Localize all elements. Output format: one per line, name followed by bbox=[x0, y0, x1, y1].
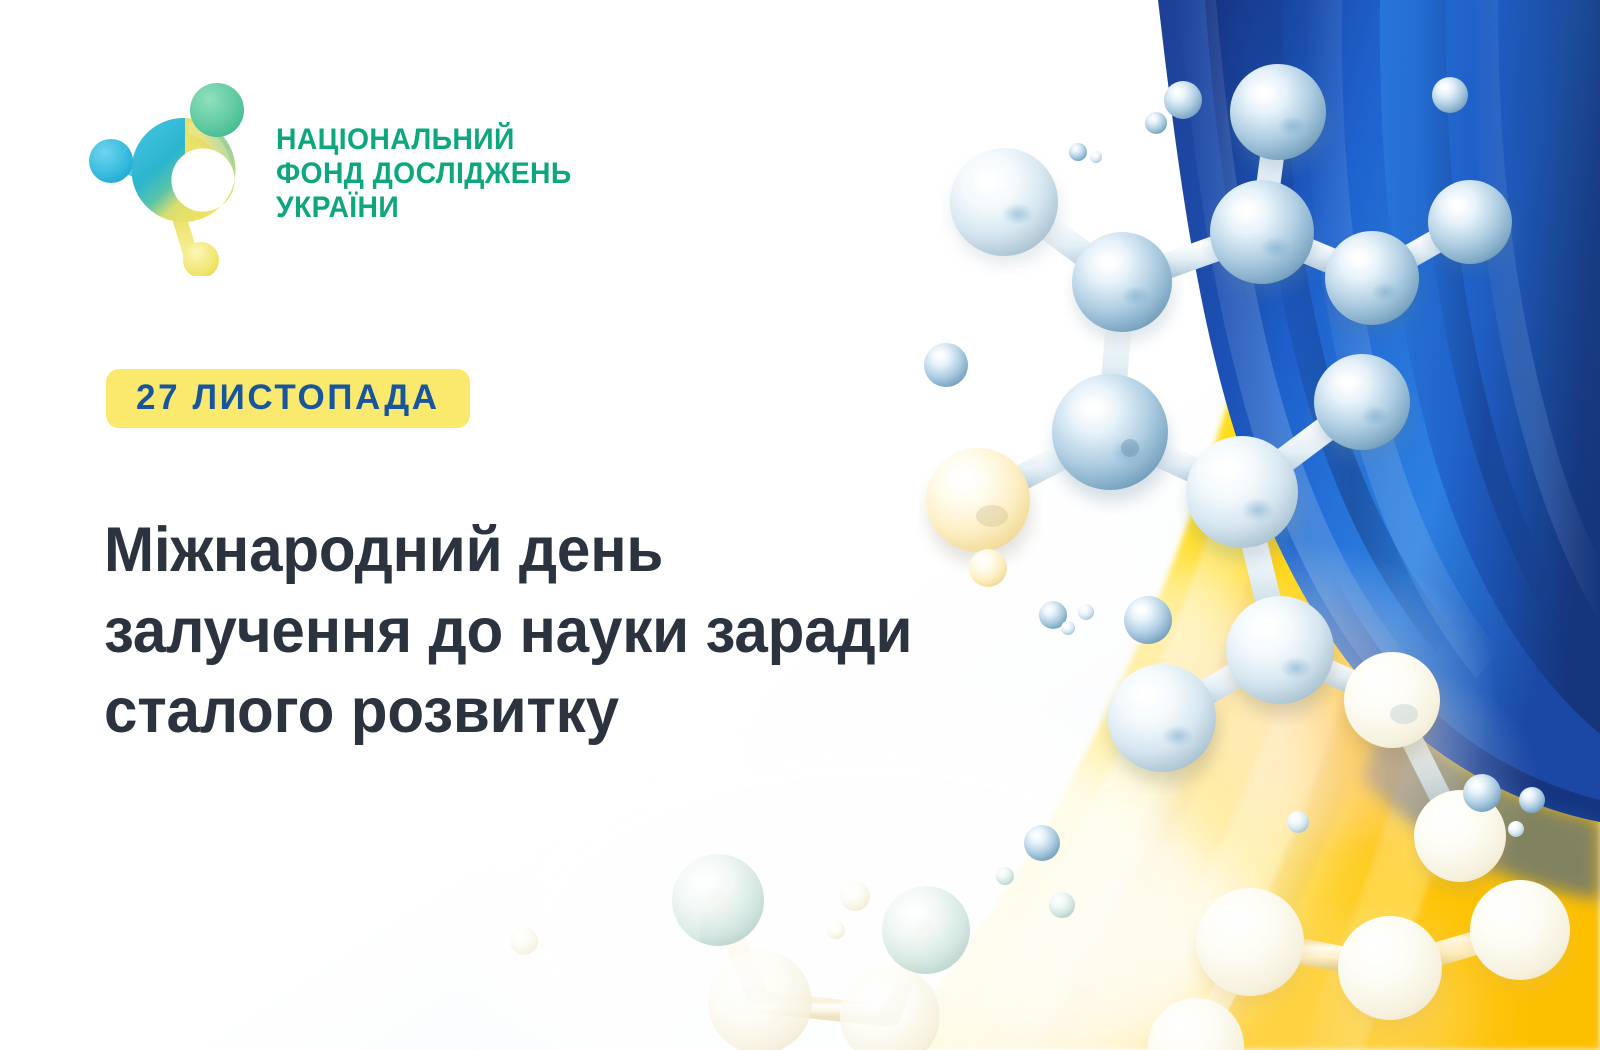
molecule-logo-icon bbox=[88, 58, 258, 276]
logo-wordmark: НАЦІОНАЛЬНИЙ ФОНД ДОСЛІДЖЕНЬ УКРАЇНИ bbox=[276, 123, 572, 226]
logo-wordmark-line-2: ФОНД ДОСЛІДЖЕНЬ bbox=[276, 157, 572, 191]
headline-line-2: залучення до науки заради bbox=[104, 591, 944, 672]
date-badge-label: 27 ЛИСТОПАДА bbox=[136, 378, 440, 417]
headline-line-3: сталого розвитку bbox=[104, 671, 944, 752]
headline-line-1: Міжнародний день bbox=[104, 510, 944, 591]
organization-logo: НАЦІОНАЛЬНИЙ ФОНД ДОСЛІДЖЕНЬ УКРАЇНИ bbox=[88, 58, 584, 276]
date-badge: 27 ЛИСТОПАДА bbox=[106, 369, 470, 428]
logo-wordmark-line-3: УКРАЇНИ bbox=[276, 191, 572, 225]
logo-wordmark-line-1: НАЦІОНАЛЬНИЙ bbox=[276, 123, 572, 157]
page-title: Міжнародний день залучення до науки зара… bbox=[104, 510, 944, 752]
banner-root: НАЦІОНАЛЬНИЙ ФОНД ДОСЛІДЖЕНЬ УКРАЇНИ 27 … bbox=[0, 0, 1600, 1050]
